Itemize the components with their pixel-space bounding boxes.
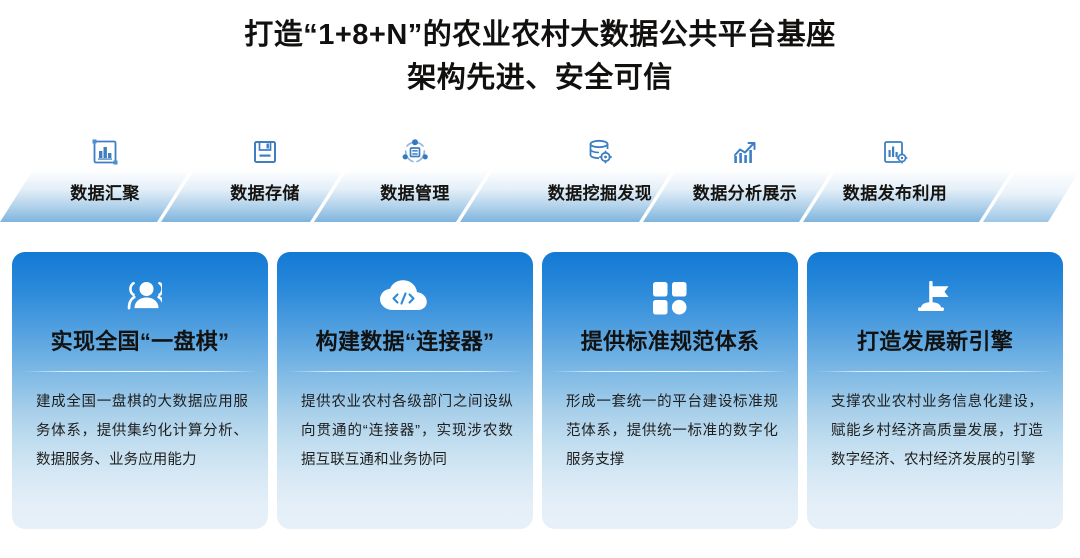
card-divider xyxy=(817,371,1053,372)
process-step-4-label: 数据挖掘发现 xyxy=(548,179,652,204)
feature-card-2[interactable]: 构建数据“连接器” 提供农业农村各级部门之间设纵向贯通的“连接器”，实现涉农数据… xyxy=(277,252,533,529)
page-title: 打造“1+8+N”的农业农村大数据公共平台基座 架构先进、安全可信 xyxy=(0,14,1080,100)
feature-card-3-title: 提供标准规范体系 xyxy=(542,324,798,356)
feature-card-1-title: 实现全国“一盘棋” xyxy=(12,324,268,356)
feature-card-3[interactable]: 提供标准规范体系 形成一套统一的平台建设标准规范体系，提供统一标准的数字化服务支… xyxy=(542,252,798,529)
page-title-line-1: 打造“1+8+N”的农业农村大数据公共平台基座 xyxy=(0,14,1080,57)
database-gear-icon xyxy=(585,132,615,172)
page-title-line-2: 架构先进、安全可信 xyxy=(0,57,1080,100)
feature-card-4-desc: 支撑农业农村业务信息化建设，赋能乡村经济高质量发展，打造数字经济、农村经济发展的… xyxy=(831,388,1043,475)
card-divider xyxy=(22,371,258,372)
feature-cards: 实现全国“一盘棋” 建成全国一盘棋的大数据应用服务体系，提供集约化计算分析、数据… xyxy=(12,252,1068,529)
flag-icon xyxy=(807,276,1063,318)
card-divider xyxy=(552,371,788,372)
process-step-1[interactable]: 数据汇聚 xyxy=(30,130,180,222)
process-step-2[interactable]: 数据存储 xyxy=(190,130,340,222)
process-step-6[interactable]: 数据发布利用 xyxy=(820,130,970,222)
process-step-2-label: 数据存储 xyxy=(230,179,300,204)
process-step-4[interactable]: 数据挖掘发现 xyxy=(525,130,675,222)
feature-card-1[interactable]: 实现全国“一盘棋” 建成全国一盘棋的大数据应用服务体系，提供集约化计算分析、数据… xyxy=(12,252,268,529)
feature-card-1-desc: 建成全国一盘棋的大数据应用服务体系，提供集约化计算分析、数据服务、业务应用能力 xyxy=(36,388,248,475)
bar-chart-frame-icon xyxy=(90,132,120,172)
report-gear-icon xyxy=(880,132,910,172)
trend-chart-icon xyxy=(730,132,760,172)
feature-card-2-title: 构建数据“连接器” xyxy=(277,324,533,356)
process-step-5[interactable]: 数据分析展示 xyxy=(670,130,820,222)
process-step-1-label: 数据汇聚 xyxy=(70,179,140,204)
feature-card-4[interactable]: 打造发展新引擎 支撑农业农村业务信息化建设，赋能乡村经济高质量发展，打造数字经济… xyxy=(807,252,1063,529)
process-step-3-label: 数据管理 xyxy=(380,179,450,204)
card-divider xyxy=(287,371,523,372)
feature-card-3-desc: 形成一套统一的平台建设标准规范体系，提供统一标准的数字化服务支撑 xyxy=(566,388,778,475)
cloud-code-icon xyxy=(277,276,533,318)
process-band: 数据汇聚 数据存储 xyxy=(0,130,1080,222)
people-icon xyxy=(12,276,268,318)
floppy-disk-icon xyxy=(250,132,280,172)
feature-card-2-desc: 提供农业农村各级部门之间设纵向贯通的“连接器”，实现涉农数据互联互通和业务协同 xyxy=(301,388,513,475)
process-step-3[interactable]: 数据管理 xyxy=(340,130,490,222)
process-step-5-label: 数据分析展示 xyxy=(693,179,797,204)
network-node-icon xyxy=(400,132,430,172)
feature-card-4-title: 打造发展新引擎 xyxy=(807,324,1063,356)
process-step-6-label: 数据发布利用 xyxy=(843,179,947,204)
grid-blocks-icon xyxy=(542,276,798,318)
